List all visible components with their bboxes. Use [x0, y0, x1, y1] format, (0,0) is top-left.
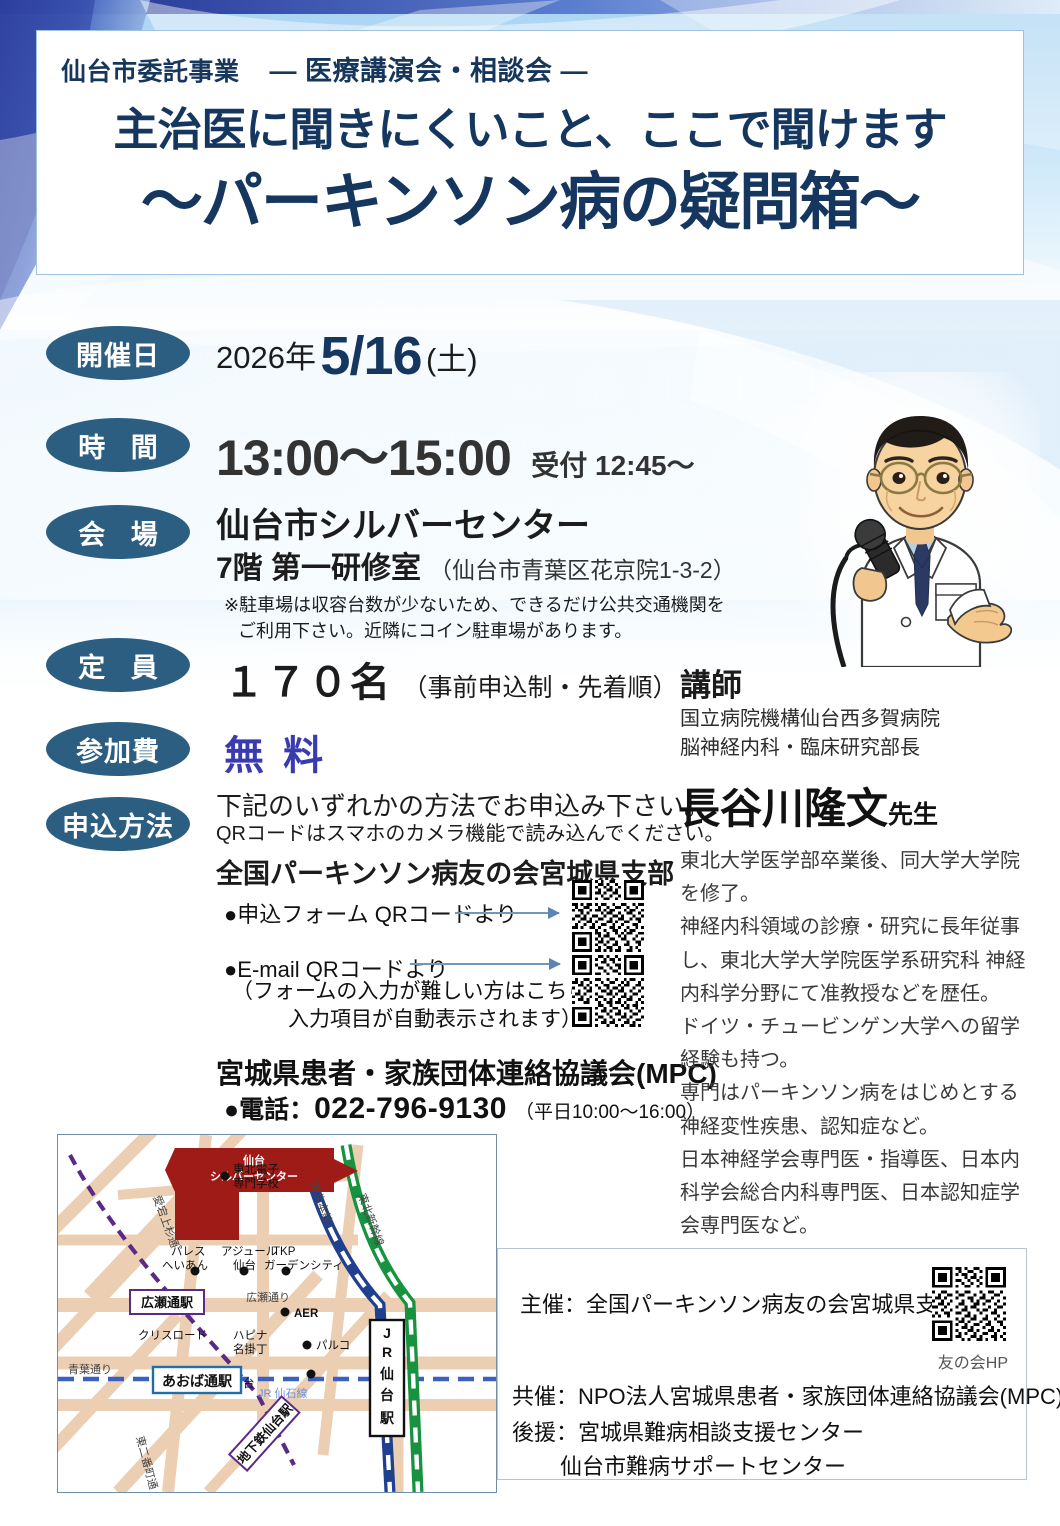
date-day: 5/16 [320, 326, 421, 386]
map-street-hirosedori: 広瀬通り [246, 1290, 290, 1304]
telephone-number: 022-796-9130 [314, 1092, 507, 1125]
apply-instruction-2: QRコードはスマホのカメラ機能で読み込んでください。 [216, 817, 724, 846]
venue-room-line: 7階 第一研修室（仙台市青葉区花京院1-3-2） [216, 543, 736, 587]
speaker-affiliation-line1: 国立病院機構仙台西多賀病院 [680, 705, 940, 734]
qr-caption-homepage: 友の会HP [938, 1349, 1008, 1373]
time-range: 13:00〜15:00 [216, 430, 511, 486]
map-station-aobadori: あおば通駅 [162, 1373, 233, 1389]
sponsor-support-1: 後援：宮城県難病相談支援センター [512, 1415, 864, 1447]
doctor-illustration [800, 372, 1040, 667]
map-poi-tkp-2: ガーデンシティ [264, 1258, 344, 1272]
map-station-hirosedori: 広瀬通駅 [141, 1295, 194, 1310]
page-subtitle: 〜パーキンソン病の疑問箱〜 [37, 151, 1023, 241]
sponsor-organizer: 主催：全国パーキンソン病友の会宮城県支部 [520, 1287, 959, 1319]
kicker-text: 仙台市委託事業 [61, 58, 240, 86]
date-year: 2026年 [216, 340, 316, 375]
arrow-to-form-qr [455, 912, 559, 914]
sponsor-box: 主催：全国パーキンソン病友の会宮城県支部 共催：NPO法人宮城県患者・家族団体連… [497, 1248, 1027, 1480]
access-map-graphic: 仙台 シルバーセンター 東北電子 専門学校 パレス へいあん アジュール 仙台 … [58, 1135, 496, 1492]
arrow-to-email-qr [410, 963, 560, 965]
label-venue: 会 場 [46, 505, 190, 559]
venue-room: 7階 第一研修室 [216, 552, 421, 585]
svg-text:台: 台 [380, 1387, 394, 1403]
date-dayofweek: (土) [426, 342, 478, 377]
svg-text:J: J [383, 1325, 391, 1341]
reception-time: 受付 12:45〜 [531, 450, 694, 481]
qr-code-application-form[interactable] [572, 880, 644, 952]
map-station-jr-sendai: 駅 [380, 1410, 395, 1426]
svg-text:仙: 仙 [380, 1366, 394, 1382]
venue-parking-note: ※駐車場は収容台数が少ないため、できるだけ公共交通機関を ご利用下さい。近隣にコ… [224, 592, 725, 644]
page-title: 主治医に聞きにくいこと、ここで聞けます [37, 93, 1023, 158]
map-poi-parco: パルコ [316, 1339, 350, 1352]
svg-text:R: R [382, 1344, 392, 1360]
telephone-label: ●電話： [224, 1096, 314, 1124]
speaker-biography: 東北大学医学部卒業後、同大学大学院を修了。神経内科領域の診療・研究に長年従事し、… [680, 845, 1032, 1243]
time-value: 13:00〜15:00 受付 12:45〜 [216, 418, 695, 490]
map-poi-tohoku-denshi-2: 専門学校 [233, 1176, 279, 1190]
mpc-telephone-row: ●電話：022-796-9130（平日10:00〜16:00） [224, 1090, 705, 1126]
sponsor-cohost: 共催：NPO法人宮城県患者・家族団体連絡協議会(MPC) [512, 1379, 1060, 1411]
venue-name: 仙台市シルバーセンター [216, 498, 590, 547]
map-poi-azur-1: アジュール [221, 1246, 277, 1258]
date-value: 2026年 5/16 (土) [216, 325, 478, 387]
speaker-honorific: 先生 [888, 801, 938, 829]
qr-code-association-homepage[interactable] [932, 1267, 1006, 1341]
speaker-affiliation: 国立病院機構仙台西多賀病院 脳神経内科・臨床研究部長 [680, 705, 940, 763]
label-capacity: 定 員 [46, 638, 190, 692]
kicker-subtitle: ― 医療講演会・相談会 ― [270, 56, 589, 86]
capacity-value-row: １７０名 （事前申込制・先着順） [224, 650, 677, 708]
map-poi-tohoku-denshi-1: 東北電子 [233, 1163, 279, 1176]
venue-address: （仙台市青葉区花京院1-3-2） [429, 557, 736, 583]
label-time: 時 間 [46, 418, 190, 472]
map-street-aobadori: 青葉通り [68, 1362, 112, 1376]
venue-note-line1: ※駐車場は収容台数が少ないため、できるだけ公共交通機関を [224, 595, 725, 615]
label-fee: 参加費 [46, 722, 190, 776]
label-date: 開催日 [46, 326, 190, 380]
capacity-note: （事前申込制・先着順） [402, 674, 677, 702]
fee-value: 無 料 [224, 723, 327, 781]
capacity-value: １７０名 [224, 661, 392, 705]
map-poi-hapina-1: ハピナ [233, 1329, 268, 1342]
access-map: 仙台 シルバーセンター 東北電子 専門学校 パレス へいあん アジュール 仙台 … [57, 1134, 497, 1493]
map-poi-hapina-2: 名掛丁 [233, 1342, 268, 1356]
speaker-name: 長谷川隆文 [678, 785, 888, 832]
venue-note-line2: ご利用下さい。近隣にコイン駐車場があります。 [224, 618, 725, 644]
map-poi-azur-2: 仙台 [233, 1258, 256, 1272]
map-street-clisroad: クリスロード [138, 1329, 207, 1342]
kicker-line: 仙台市委託事業― 医療講演会・相談会 ― [61, 49, 588, 88]
qr-code-email[interactable] [572, 955, 644, 1027]
speaker-heading: 講師 [680, 660, 742, 705]
speaker-affiliation-line2: 脳神経内科・臨床研究部長 [680, 734, 940, 763]
title-banner: 仙台市委託事業― 医療講演会・相談会 ― 主治医に聞きにくいこと、ここで聞けます… [36, 30, 1024, 275]
label-apply: 申込方法 [46, 797, 190, 851]
mpc-organization: 宮城県患者・家族団体連絡協議会(MPC) [216, 1052, 717, 1092]
map-poi-palace-2: へいあん [162, 1259, 208, 1272]
telephone-hours: （平日10:00〜16:00） [515, 1102, 705, 1123]
sponsor-support-2: 仙台市難病サポートセンター [560, 1449, 846, 1481]
map-poi-aer: AER [294, 1308, 319, 1320]
speaker-name-row: 長谷川隆文先生 [678, 775, 938, 836]
map-poi-tkp-1: TKP [273, 1246, 296, 1258]
